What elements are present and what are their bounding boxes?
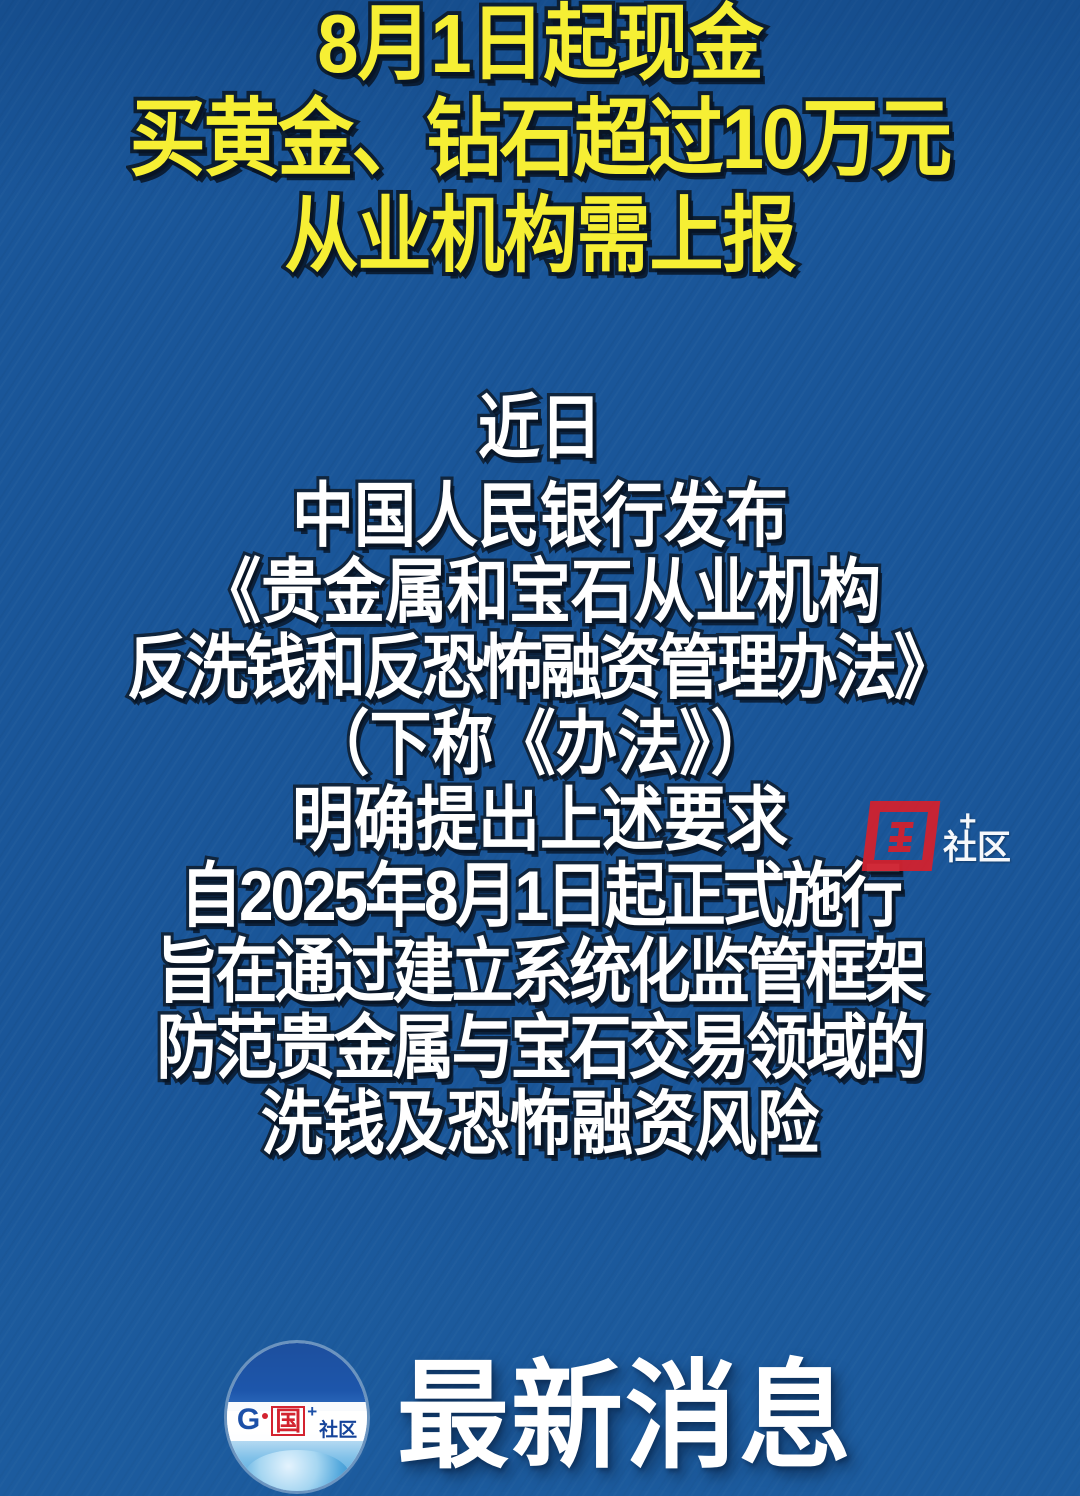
body-line-2: 中国人民银行发布 [0, 474, 1080, 561]
watermark-logo: + 社区 [866, 790, 1046, 882]
badge-dot-icon [262, 1413, 268, 1419]
badge-wordmark: G 国 + 社区 [227, 1402, 367, 1440]
brand-badge-logo: G 国 + 社区 [227, 1343, 367, 1491]
body-line-3: 《贵金属和宝石从业机构 [0, 550, 1080, 637]
headline-line-3: 从业机构需上报 [0, 182, 1080, 290]
footer-bar: G 国 + 社区 最新消息 [0, 1338, 1080, 1496]
news-poster: 8月1日起现金 买黄金、钻石超过10万元 从业机构需上报 近日 中国人民银行发布… [0, 0, 1080, 1496]
badge-sky-backdrop [227, 1343, 367, 1411]
body-line-4: 反洗钱和反恐怖融资管理办法》 [0, 626, 1080, 713]
headline-line-2: 买黄金、钻石超过10万元 [0, 86, 1080, 194]
guo-seal-icon [862, 801, 941, 871]
watermark-label: 社区 [943, 831, 1011, 865]
watermark-text-group: + 社区 [943, 807, 1011, 865]
badge-label: 社区 [319, 1421, 357, 1440]
badge-letter-g: G [237, 1405, 259, 1435]
body-line-8: 旨在通过建立系统化监管框架 [0, 930, 1080, 1017]
badge-globe-icon [227, 1432, 367, 1491]
badge-plus-icon: + [307, 1403, 317, 1420]
badge-guo-char: 国 [271, 1406, 305, 1436]
footer-title: 最新消息 [397, 1358, 853, 1476]
body-text-block: 近日 中国人民银行发布 《贵金属和宝石从业机构 反洗钱和反恐怖融资管理办法》 （… [0, 386, 1080, 1158]
headline-block: 8月1日起现金 买黄金、钻石超过10万元 从业机构需上报 [0, 0, 1080, 278]
body-line-9: 防范贵金属与宝石交易领域的 [0, 1006, 1080, 1093]
body-line-10: 洗钱及恐怖融资风险 [0, 1082, 1080, 1169]
body-line-1: 近日 [0, 386, 1080, 473]
body-line-5: （下称《办法》） [0, 702, 1080, 789]
headline-line-1: 8月1日起现金 [0, 0, 1080, 98]
